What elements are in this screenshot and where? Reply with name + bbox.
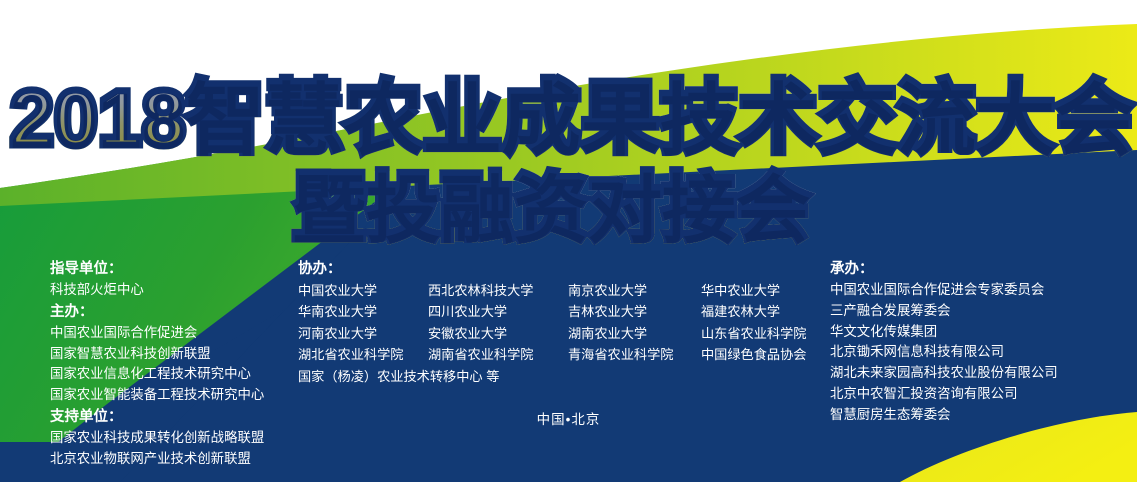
organizer-item: 中国农业国际合作促进会 [50,323,300,344]
host-item: 北京中农智汇投资咨询有限公司 [830,384,1130,405]
host-item: 湖北未来家园高科技农业股份有限公司 [830,363,1130,384]
coorganizer-heading: 协办： [298,258,818,280]
column-host: 承办： 中国农业国际合作促进会专家委员会 三产融合发展筹委会 华文文化传媒集团 … [830,258,1130,425]
coorganizer-item: 青海省农业科学院 [568,344,701,365]
host-item: 三产融合发展筹委会 [830,301,1130,322]
host-item: 中国农业国际合作促进会专家委员会 [830,280,1130,301]
coorganizer-item: 山东省农业科学院 [701,323,821,344]
coorganizer-item: 安徽农业大学 [428,323,568,344]
guidance-heading: 指导单位： [50,258,300,280]
info-columns: 指导单位： 科技部火炬中心 主办： 中国农业国际合作促进会 国家智慧农业科技创新… [0,258,1137,458]
supporter-item: 北京农业物联网产业技术创新联盟 [50,449,300,470]
organizer-heading: 主办： [50,301,300,323]
supporter-item: 国家农业科技成果转化创新战略联盟 [50,428,300,449]
organizer-item: 国家农业信息化工程技术研究中心 [50,364,300,385]
coorganizer-grid: 中国农业大学 西北农林科技大学 南京农业大学 华中农业大学 华南农业大学 四川农… [298,280,818,366]
guidance-item: 科技部火炬中心 [50,280,300,301]
column-sponsors: 指导单位： 科技部火炬中心 主办： 中国农业国际合作促进会 国家智慧农业科技创新… [50,258,300,469]
coorganizer-item: 南京农业大学 [568,280,701,301]
host-heading: 承办： [830,258,1130,280]
coorganizer-item: 四川农业大学 [428,301,568,322]
coorganizer-item: 吉林农业大学 [568,301,701,322]
coorganizer-item: 湖北省农业科学院 [298,344,428,365]
coorganizer-item: 华南农业大学 [298,301,428,322]
organizer-item: 国家农业智能装备工程技术研究中心 [50,385,300,406]
coorganizer-item: 中国绿色食品协会 [701,344,821,365]
coorganizer-item: 华中农业大学 [701,280,821,301]
column-coorganizers: 协办： 中国农业大学 西北农林科技大学 南京农业大学 华中农业大学 华南农业大学… [298,258,818,387]
conference-banner: 2018智慧农业成果技术交流大会 暨投融资对接会 指导单位： 科技部火炬中心 主… [0,0,1137,482]
coorganizer-item: 福建农林大学 [701,301,821,322]
coorganizer-item: 河南农业大学 [298,323,428,344]
coorganizer-item: 湖南省农业科学院 [428,344,568,365]
organizer-item: 国家智慧农业科技创新联盟 [50,344,300,365]
venue-text: 中国•北京 [0,408,1137,428]
coorganizer-item: 湖南农业大学 [568,323,701,344]
coorganizer-item: 西北农林科技大学 [428,280,568,301]
host-item: 北京锄禾网信息科技有限公司 [830,342,1130,363]
coorganizer-tail: 国家（杨凌）农业技术转移中心 等 [298,366,818,387]
coorganizer-item: 中国农业大学 [298,280,428,301]
host-item: 华文文化传媒集团 [830,322,1130,343]
